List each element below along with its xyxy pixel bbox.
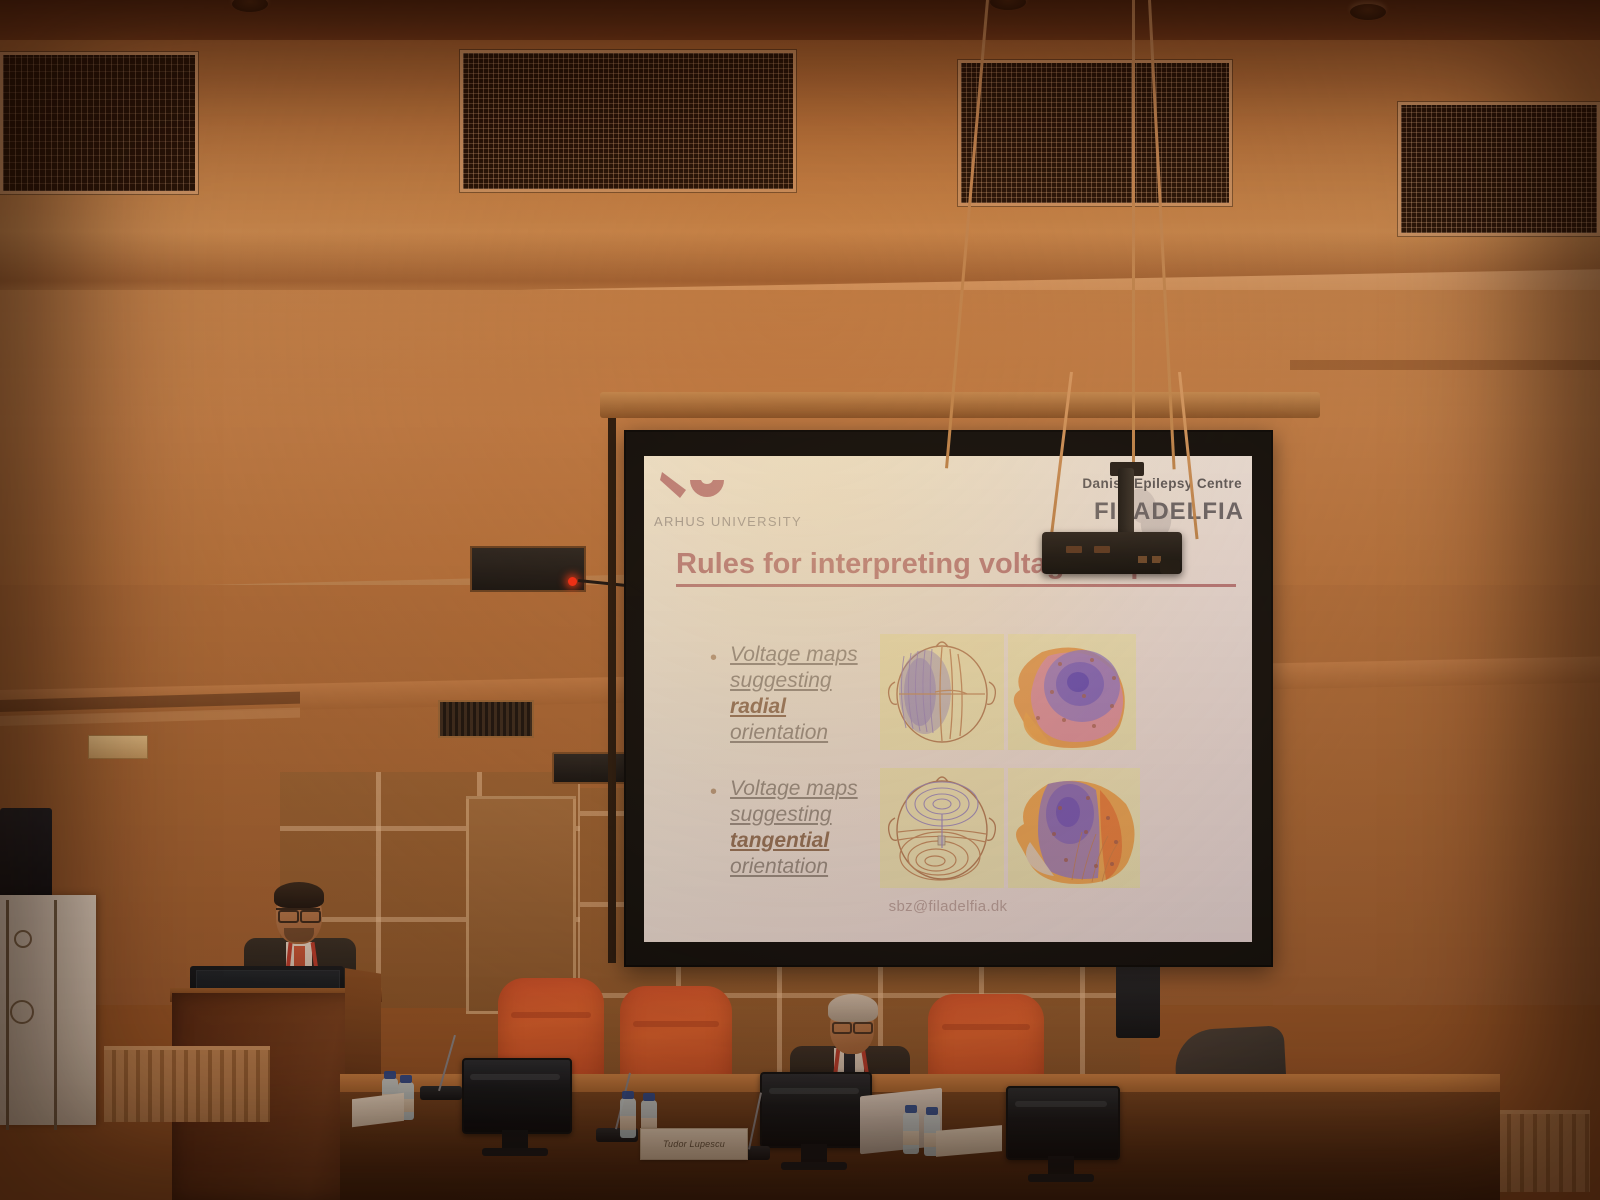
tangential-2d-head-map-icon bbox=[880, 768, 1004, 888]
wall-trim bbox=[1290, 360, 1600, 370]
monitor-screen[interactable] bbox=[462, 1058, 572, 1134]
wall-vent-grille bbox=[958, 60, 1232, 206]
suspension-wire bbox=[1132, 0, 1135, 466]
slide-footer-email: sbz@filadelfia.dk bbox=[644, 898, 1252, 915]
wall-vent-grille bbox=[0, 52, 198, 194]
radial-2d-map-panel bbox=[880, 634, 1004, 750]
bottle-label bbox=[620, 1116, 636, 1130]
presentation-slide: ARHUS UNIVERSITY Danish Epilepsy Centre … bbox=[644, 456, 1252, 942]
bullet-marker: • bbox=[710, 648, 717, 746]
wall-vent-grille bbox=[460, 50, 796, 192]
speaker-glasses-lens bbox=[300, 910, 321, 923]
projector-vent-icon bbox=[1094, 546, 1110, 553]
ceiling-light bbox=[1350, 4, 1386, 20]
panelist-glasses-lens bbox=[832, 1022, 852, 1034]
bottle-cap bbox=[622, 1091, 634, 1099]
desk-microphone[interactable] bbox=[420, 1086, 462, 1100]
monitor-stand bbox=[502, 1130, 528, 1148]
tangential-2d-map-panel bbox=[880, 768, 1004, 888]
bullet-line: orientation bbox=[730, 854, 858, 880]
table-nameplate: Tudor Lupescu bbox=[640, 1128, 748, 1160]
screen-edge-shadow bbox=[608, 418, 616, 963]
vent-grid-pattern bbox=[961, 63, 1229, 203]
bullet-line-emphasis: radial bbox=[730, 694, 858, 720]
table-monitor[interactable] bbox=[462, 1058, 568, 1130]
bullet-line: Voltage maps bbox=[730, 642, 858, 668]
monitor-stand bbox=[1048, 1156, 1074, 1174]
flipchart-ring bbox=[10, 1000, 34, 1024]
bullet-marker: • bbox=[710, 782, 717, 880]
radial-2d-head-map-icon bbox=[880, 634, 1004, 750]
wall-vent-grille bbox=[1398, 102, 1600, 236]
water-bottle[interactable] bbox=[620, 1098, 636, 1138]
water-bottle[interactable] bbox=[903, 1112, 919, 1154]
panelist-glasses-lens bbox=[853, 1022, 873, 1034]
monitor-screen[interactable] bbox=[1006, 1086, 1120, 1160]
speaker-hair bbox=[274, 882, 324, 908]
bottle-cap bbox=[400, 1075, 412, 1083]
bullet-text: Voltage maps suggesting tangential orien… bbox=[730, 776, 858, 880]
wall-plaque bbox=[88, 735, 148, 759]
monitor-stand bbox=[801, 1144, 827, 1162]
bullet-line: suggesting bbox=[730, 802, 858, 828]
av-speaker-box bbox=[470, 546, 586, 592]
bottle-cap bbox=[926, 1107, 938, 1115]
slide-bullet-tangential: • Voltage maps suggesting tangential ori… bbox=[710, 776, 858, 880]
projector-vent-icon bbox=[1066, 546, 1082, 553]
monitor-base bbox=[1028, 1174, 1094, 1182]
speaker-beard bbox=[284, 928, 314, 942]
projector-button-icon bbox=[1138, 556, 1147, 563]
vent-grid-pattern bbox=[463, 53, 793, 189]
panelist-hair bbox=[828, 994, 878, 1022]
slide-bullet-radial: • Voltage maps suggesting radial orienta… bbox=[710, 642, 858, 746]
tangential-3d-head-map-icon bbox=[1008, 768, 1140, 888]
wall-vent-small bbox=[438, 700, 534, 738]
bottle-label bbox=[903, 1131, 919, 1145]
filadelfia-label: FILADELFIA bbox=[1094, 498, 1244, 526]
bottle-cap bbox=[384, 1071, 396, 1079]
bullet-text: Voltage maps suggesting radial orientati… bbox=[730, 642, 858, 746]
aarhus-university-logo-icon bbox=[660, 468, 734, 514]
nameplate-text: Tudor Lupescu bbox=[663, 1139, 725, 1149]
table-monitor[interactable] bbox=[1006, 1086, 1116, 1156]
flipchart-leg bbox=[6, 900, 9, 1130]
tangential-3d-map-panel bbox=[1008, 768, 1140, 888]
bottle-cap bbox=[643, 1093, 655, 1101]
flipchart-ring bbox=[14, 930, 32, 948]
projector-lens bbox=[1160, 560, 1180, 574]
flipchart-leg bbox=[54, 900, 57, 1130]
projection-screen-housing bbox=[600, 392, 1320, 418]
table-monitor[interactable] bbox=[760, 1072, 868, 1144]
bullet-line: Voltage maps bbox=[730, 776, 858, 802]
danish-epilepsy-centre-label: Danish Epilepsy Centre bbox=[1082, 476, 1242, 491]
vent-grid-pattern bbox=[1401, 105, 1597, 233]
aarhus-university-label: ARHUS UNIVERSITY bbox=[654, 514, 802, 529]
projection-screen: ARHUS UNIVERSITY Danish Epilepsy Centre … bbox=[624, 430, 1273, 967]
bullet-line-emphasis: tangential bbox=[730, 828, 858, 854]
lecture-hall-photo: ARHUS UNIVERSITY Danish Epilepsy Centre … bbox=[0, 0, 1600, 1200]
projector-arm bbox=[1118, 468, 1134, 538]
bullet-line: suggesting bbox=[730, 668, 858, 694]
monitor-base bbox=[781, 1162, 847, 1170]
speaker-glasses-lens bbox=[278, 910, 299, 923]
bottle-cap bbox=[905, 1105, 917, 1113]
radiator-left bbox=[104, 1046, 270, 1122]
monitor-screen[interactable] bbox=[760, 1072, 872, 1148]
monitor-base bbox=[482, 1148, 548, 1156]
power-led-indicator bbox=[568, 577, 577, 586]
mic-base bbox=[420, 1086, 462, 1100]
radial-3d-head-map-icon bbox=[1008, 634, 1136, 750]
radial-3d-map-panel bbox=[1008, 634, 1136, 750]
bullet-line: orientation bbox=[730, 720, 858, 746]
vent-grid-pattern bbox=[3, 55, 195, 191]
